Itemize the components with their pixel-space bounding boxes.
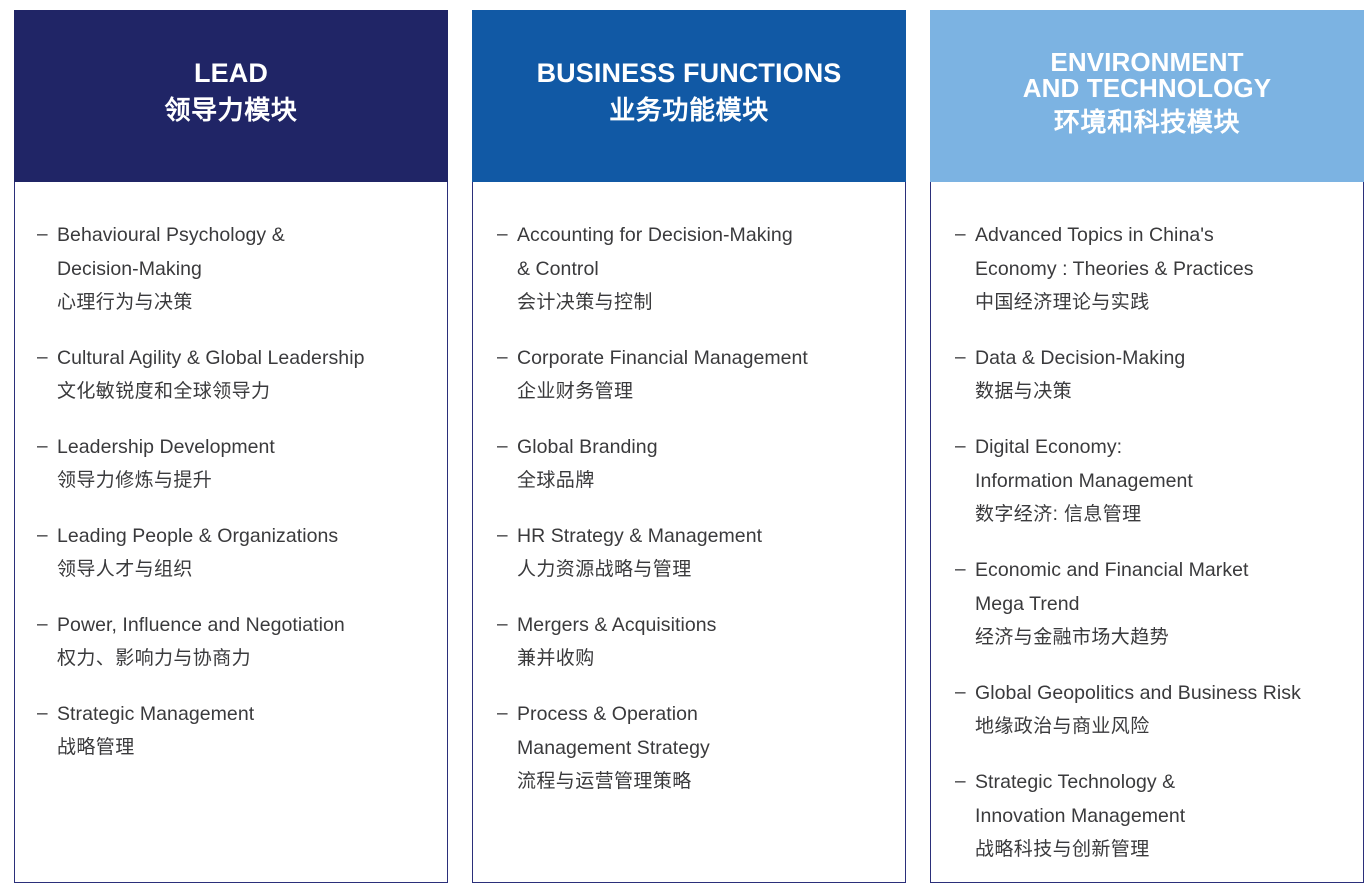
dash-marker-icon: – <box>35 519 57 553</box>
dash-marker-icon: – <box>495 608 517 642</box>
module-title-zh: 业务功能模块 <box>609 96 769 126</box>
dash-marker-icon: – <box>495 218 517 252</box>
module-title-zh: 领导力模块 <box>164 96 297 126</box>
course-name-en: Global Geopolitics and Business Risk <box>975 676 1355 710</box>
course-name-en: Leadership Development <box>57 430 433 464</box>
course-name-zh: 心理行为与决策 <box>57 286 433 320</box>
course-name-en: Global Branding <box>517 430 891 464</box>
dash-marker-icon: – <box>35 697 57 731</box>
dash-marker-icon: – <box>495 697 517 731</box>
course-name-en: Strategic Technology & Innovation Manage… <box>975 765 1355 833</box>
course-name-zh: 全球品牌 <box>517 464 891 498</box>
course-text: Accounting for Decision-Making & Control… <box>517 218 891 320</box>
course-item: – Accounting for Decision-Making & Contr… <box>495 218 891 320</box>
course-text: Economic and Financial Market Mega Trend… <box>975 553 1355 655</box>
course-text: Digital Economy: Information Management … <box>975 430 1355 532</box>
course-name-en: Strategic Management <box>57 697 433 731</box>
dash-marker-icon: – <box>953 218 975 252</box>
course-item: – Process & Operation Management Strateg… <box>495 697 891 799</box>
module-body-environment-and-technology: – Advanced Topics in China's Economy : T… <box>930 182 1364 883</box>
course-item: – Corporate Financial Management 企业财务管理 <box>495 341 891 409</box>
module-title-en: ENVIRONMENT AND TECHNOLOGY <box>1023 49 1271 102</box>
course-text: Cultural Agility & Global Leadership 文化敏… <box>57 341 433 409</box>
module-title-en: BUSINESS FUNCTIONS <box>537 60 842 88</box>
course-name-zh: 数字经济: 信息管理 <box>975 498 1355 532</box>
dash-marker-icon: – <box>35 218 57 252</box>
module-body-lead: – Behavioural Psychology & Decision-Maki… <box>14 182 448 883</box>
course-name-zh: 领导人才与组织 <box>57 553 433 587</box>
course-item: – Global Geopolitics and Business Risk 地… <box>953 676 1355 744</box>
course-item: – Cultural Agility & Global Leadership 文… <box>35 341 433 409</box>
course-name-en: Accounting for Decision-Making & Control <box>517 218 891 286</box>
course-name-zh: 流程与运营管理策略 <box>517 765 891 799</box>
module-card-environment-and-technology: ENVIRONMENT AND TECHNOLOGY 环境和科技模块 – Adv… <box>930 10 1364 883</box>
curriculum-modules-board: LEAD 领导力模块 – Behavioural Psychology & De… <box>0 0 1370 892</box>
course-text: Leading People & Organizations 领导人才与组织 <box>57 519 433 587</box>
course-item: – Economic and Financial Market Mega Tre… <box>953 553 1355 655</box>
course-name-zh: 中国经济理论与实践 <box>975 286 1355 320</box>
course-text: Advanced Topics in China's Economy : The… <box>975 218 1355 320</box>
course-item: – Strategic Management 战略管理 <box>35 697 433 765</box>
module-body-business-functions: – Accounting for Decision-Making & Contr… <box>472 182 906 883</box>
course-text: Global Branding 全球品牌 <box>517 430 891 498</box>
course-text: Strategic Technology & Innovation Manage… <box>975 765 1355 867</box>
module-title-en: LEAD <box>194 60 268 88</box>
course-item: – Data & Decision-Making 数据与决策 <box>953 341 1355 409</box>
dash-marker-icon: – <box>35 341 57 375</box>
course-text: Behavioural Psychology & Decision-Making… <box>57 218 433 320</box>
course-text: Leadership Development 领导力修炼与提升 <box>57 430 433 498</box>
course-text: HR Strategy & Management 人力资源战略与管理 <box>517 519 891 587</box>
course-text: Strategic Management 战略管理 <box>57 697 433 765</box>
course-name-zh: 企业财务管理 <box>517 375 891 409</box>
dash-marker-icon: – <box>495 519 517 553</box>
dash-marker-icon: – <box>953 430 975 464</box>
module-title-zh: 环境和科技模块 <box>1054 108 1240 138</box>
course-list-business-functions: – Accounting for Decision-Making & Contr… <box>495 218 891 799</box>
course-item: – Advanced Topics in China's Economy : T… <box>953 218 1355 320</box>
dash-marker-icon: – <box>953 341 975 375</box>
course-list-environment-and-technology: – Advanced Topics in China's Economy : T… <box>953 218 1355 867</box>
course-name-en: Cultural Agility & Global Leadership <box>57 341 433 375</box>
course-item: – Power, Influence and Negotiation 权力、影响… <box>35 608 433 676</box>
course-name-zh: 数据与决策 <box>975 375 1355 409</box>
course-name-en: Data & Decision-Making <box>975 341 1355 375</box>
course-text: Corporate Financial Management 企业财务管理 <box>517 341 891 409</box>
course-name-en: Process & Operation Management Strategy <box>517 697 891 765</box>
course-item: – Leading People & Organizations 领导人才与组织 <box>35 519 433 587</box>
course-item: – Behavioural Psychology & Decision-Maki… <box>35 218 433 320</box>
course-name-zh: 经济与金融市场大趋势 <box>975 621 1355 655</box>
course-name-en: Corporate Financial Management <box>517 341 891 375</box>
dash-marker-icon: – <box>35 608 57 642</box>
course-name-en: HR Strategy & Management <box>517 519 891 553</box>
course-name-en: Economic and Financial Market Mega Trend <box>975 553 1355 621</box>
course-name-en: Digital Economy: Information Management <box>975 430 1355 498</box>
course-name-en: Mergers & Acquisitions <box>517 608 891 642</box>
course-list-lead: – Behavioural Psychology & Decision-Maki… <box>35 218 433 765</box>
course-name-zh: 人力资源战略与管理 <box>517 553 891 587</box>
course-name-zh: 战略科技与创新管理 <box>975 833 1355 867</box>
dash-marker-icon: – <box>953 676 975 710</box>
course-item: – HR Strategy & Management 人力资源战略与管理 <box>495 519 891 587</box>
course-name-zh: 战略管理 <box>57 731 433 765</box>
dash-marker-icon: – <box>495 430 517 464</box>
dash-marker-icon: – <box>953 765 975 799</box>
course-name-en: Leading People & Organizations <box>57 519 433 553</box>
dash-marker-icon: – <box>953 553 975 587</box>
course-item: – Leadership Development 领导力修炼与提升 <box>35 430 433 498</box>
module-header-lead: LEAD 领导力模块 <box>14 10 448 182</box>
course-name-zh: 兼并收购 <box>517 642 891 676</box>
course-text: Power, Influence and Negotiation 权力、影响力与… <box>57 608 433 676</box>
course-text: Global Geopolitics and Business Risk 地缘政… <box>975 676 1355 744</box>
course-name-en: Power, Influence and Negotiation <box>57 608 433 642</box>
module-card-business-functions: BUSINESS FUNCTIONS 业务功能模块 – Accounting f… <box>472 10 906 883</box>
course-name-zh: 文化敏锐度和全球领导力 <box>57 375 433 409</box>
course-item: – Digital Economy: Information Managemen… <box>953 430 1355 532</box>
module-header-environment-and-technology: ENVIRONMENT AND TECHNOLOGY 环境和科技模块 <box>930 10 1364 182</box>
course-name-en: Behavioural Psychology & Decision-Making <box>57 218 433 286</box>
course-item: – Mergers & Acquisitions 兼并收购 <box>495 608 891 676</box>
course-text: Data & Decision-Making 数据与决策 <box>975 341 1355 409</box>
course-name-zh: 地缘政治与商业风险 <box>975 710 1355 744</box>
course-name-zh: 会计决策与控制 <box>517 286 891 320</box>
course-name-zh: 权力、影响力与协商力 <box>57 642 433 676</box>
course-item: – Global Branding 全球品牌 <box>495 430 891 498</box>
course-name-zh: 领导力修炼与提升 <box>57 464 433 498</box>
module-header-business-functions: BUSINESS FUNCTIONS 业务功能模块 <box>472 10 906 182</box>
module-card-lead: LEAD 领导力模块 – Behavioural Psychology & De… <box>14 10 448 883</box>
course-text: Mergers & Acquisitions 兼并收购 <box>517 608 891 676</box>
course-name-en: Advanced Topics in China's Economy : The… <box>975 218 1355 286</box>
dash-marker-icon: – <box>495 341 517 375</box>
course-item: – Strategic Technology & Innovation Mana… <box>953 765 1355 867</box>
dash-marker-icon: – <box>35 430 57 464</box>
course-text: Process & Operation Management Strategy … <box>517 697 891 799</box>
